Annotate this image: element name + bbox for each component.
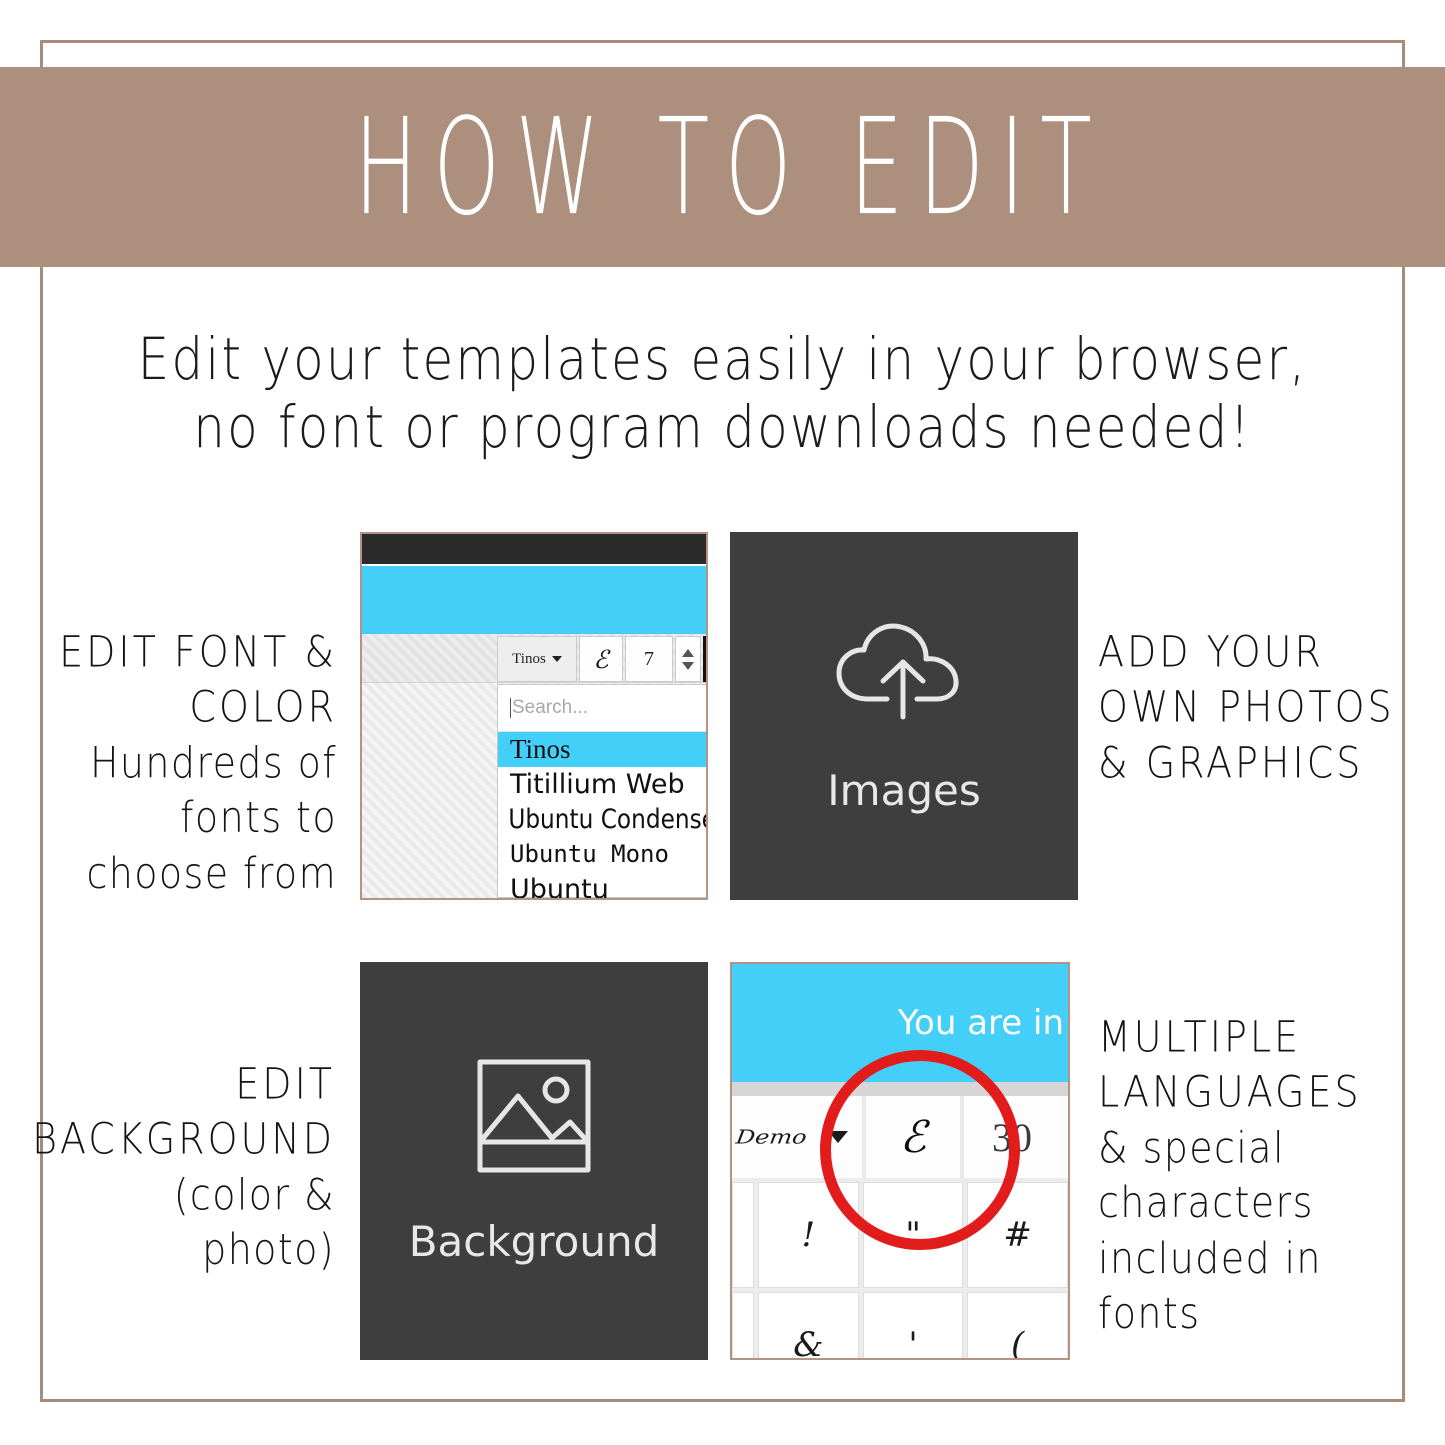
caption-line: characters xyxy=(1098,1176,1433,1231)
text-caret xyxy=(510,698,511,718)
font-list-item[interactable]: Tinos xyxy=(498,732,708,767)
subtitle-line-2: no font or program downloads needed! xyxy=(60,394,1385,462)
charmap-cell[interactable] xyxy=(732,1292,754,1360)
screenshot-font-editor: Tinos ℰ 7 Search... Tinos Titillium Web … xyxy=(360,532,708,900)
caption-edit-font-color: EDIT FONT & COLOR Hundreds of fonts to c… xyxy=(37,625,337,902)
caption-line: BACKGROUND xyxy=(15,1112,335,1167)
chevron-down-icon xyxy=(552,656,562,662)
editor-text-toolbar: Tinos ℰ 7 xyxy=(497,636,708,682)
caption-line: photo) xyxy=(15,1223,335,1278)
picture-landscape-icon xyxy=(474,1056,594,1181)
caption-line: Hundreds of xyxy=(37,736,337,791)
charmap-banner-text: You are in xyxy=(898,1003,1068,1043)
caption-line: MULTIPLE xyxy=(1098,1010,1433,1065)
caption-line: & GRAPHICS xyxy=(1098,736,1428,791)
subtitle-line-1: Edit your templates easily in your brows… xyxy=(60,326,1385,394)
spinner-down-icon[interactable] xyxy=(682,662,694,670)
screenshot-images-tile: Images xyxy=(730,532,1078,900)
font-size-value: 7 xyxy=(644,648,654,671)
caption-line: fonts to xyxy=(37,791,337,846)
font-size-field[interactable]: 7 xyxy=(625,636,673,682)
charmap-cell[interactable]: ( xyxy=(967,1292,1068,1360)
caption-line: LANGUAGES xyxy=(1098,1065,1433,1120)
charmap-cell[interactable]: ' xyxy=(863,1292,964,1360)
caption-line: & special xyxy=(1098,1121,1433,1176)
font-list-item[interactable]: Titillium Web xyxy=(498,767,708,802)
charmap-font-value: Demo xyxy=(735,1126,809,1148)
page-title: HOW TO EDIT xyxy=(338,89,1107,244)
caption-edit-background: EDIT BACKGROUND (color & photo) xyxy=(15,1057,335,1278)
charmap-row: & ' ( xyxy=(732,1288,1068,1360)
caption-line: EDIT FONT & xyxy=(37,625,337,680)
highlight-circle-annotation xyxy=(820,1050,1020,1250)
caption-line: fonts xyxy=(1098,1287,1433,1342)
caption-line: choose from xyxy=(37,846,337,901)
images-tile-label: Images xyxy=(827,766,980,815)
background-tile-label: Background xyxy=(409,1217,660,1266)
font-list-item[interactable]: Ubuntu Condensed xyxy=(498,802,679,837)
screenshot-character-map: You are in Demo ℰ 30 ! " # & ' ( xyxy=(730,962,1070,1360)
header-banner: HOW TO EDIT xyxy=(0,67,1445,267)
script-a-icon[interactable]: ℰ xyxy=(579,636,623,682)
spinner-up-icon[interactable] xyxy=(682,649,694,657)
editor-blue-header xyxy=(362,566,706,634)
font-list: Tinos Titillium Web Ubuntu Condensed Ubu… xyxy=(498,732,708,900)
font-list-item[interactable]: Ubuntu Mono xyxy=(498,837,708,872)
font-family-dropdown-panel: Search... Tinos Titillium Web Ubuntu Con… xyxy=(497,684,708,898)
subtitle: Edit your templates easily in your brows… xyxy=(60,326,1385,462)
caption-line: included in xyxy=(1098,1231,1433,1286)
caption-multiple-languages: MULTIPLE LANGUAGES & special characters … xyxy=(1098,1010,1433,1342)
font-search-placeholder: Search... xyxy=(512,697,588,719)
font-search-input[interactable]: Search... xyxy=(498,685,708,732)
charmap-cell[interactable]: & xyxy=(758,1292,859,1360)
caption-add-photos: ADD YOUR OWN PHOTOS & GRAPHICS xyxy=(1098,625,1428,791)
charmap-cell[interactable] xyxy=(732,1182,754,1288)
caption-line: (color & xyxy=(15,1168,335,1223)
screenshot-background-tile: Background xyxy=(360,962,708,1360)
caption-line: EDIT xyxy=(15,1057,335,1112)
font-list-item[interactable]: Ubuntu xyxy=(498,872,708,900)
caption-line: ADD YOUR xyxy=(1098,625,1428,680)
font-family-dropdown[interactable]: Tinos xyxy=(497,636,577,682)
color-swatch-black[interactable] xyxy=(703,636,708,682)
caption-line: OWN PHOTOS xyxy=(1098,680,1428,735)
font-size-stepper[interactable] xyxy=(675,636,701,682)
script-a-glyph: ℰ xyxy=(593,645,608,674)
editor-topbar xyxy=(362,534,706,564)
caption-line: COLOR xyxy=(37,680,337,735)
cloud-upload-icon xyxy=(829,617,979,732)
font-family-value: Tinos xyxy=(512,651,546,668)
